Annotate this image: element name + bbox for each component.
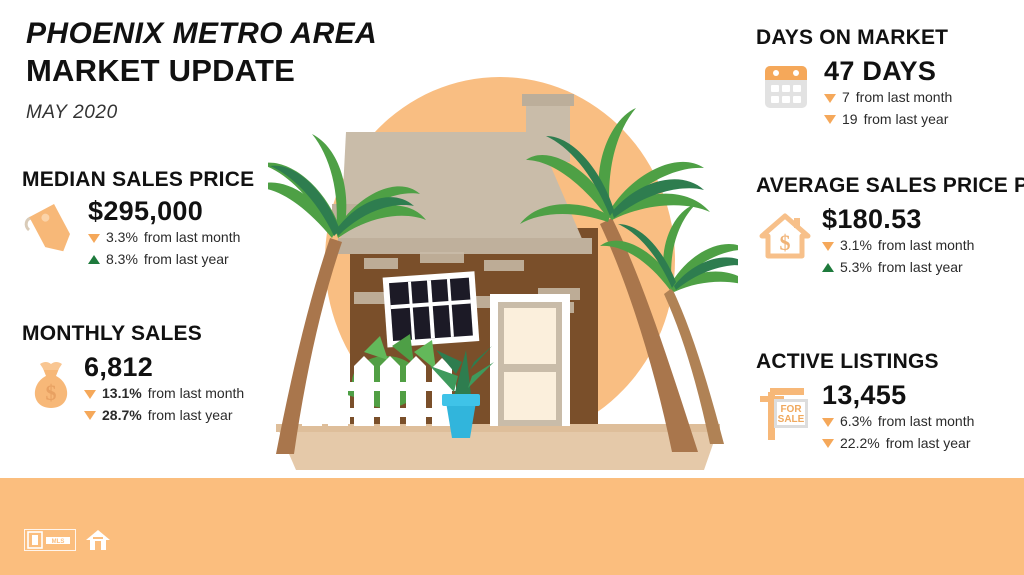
- svg-text:SALE: SALE: [778, 414, 805, 425]
- svg-text:$: $: [46, 380, 57, 405]
- arrow-down-icon: [824, 94, 836, 103]
- delta-number: 28.7%: [102, 405, 142, 426]
- delta-year: 5.3% from last year: [822, 257, 1018, 278]
- delta-number: 6.3%: [840, 411, 872, 432]
- stat-value: $295,000: [88, 196, 322, 227]
- delta-year: 19 from last year: [824, 109, 1018, 130]
- footer-bar: MLS Source: ARMLS® ubgre.com: [0, 478, 1024, 575]
- delta-label: from last year: [864, 109, 949, 130]
- arrow-down-icon: [822, 242, 834, 251]
- price-tag-icon: [22, 196, 80, 258]
- delta-month: 13.1% from last month: [84, 383, 322, 404]
- delta-month: 6.3% from last month: [822, 411, 1018, 432]
- stat-heading: ACTIVE LISTINGS: [756, 350, 1018, 374]
- delta-number: 7: [842, 87, 850, 108]
- house-dollar-icon: $: [756, 204, 814, 266]
- delta-label: from last month: [878, 235, 974, 256]
- stat-median-sales-price: MEDIAN SALES PRICE $295,000 3.3% from la…: [22, 168, 322, 270]
- money-bag-icon: $: [22, 352, 80, 414]
- stat-value: 13,455: [822, 380, 1018, 411]
- delta-number: 19: [842, 109, 858, 130]
- delta-month: 3.1% from last month: [822, 235, 1018, 256]
- arrow-down-icon: [824, 115, 836, 124]
- stat-days-on-market: DAYS ON MARKET: [756, 26, 1018, 130]
- house-illustration: [268, 52, 738, 472]
- delta-number: 3.1%: [840, 235, 872, 256]
- arrow-down-icon: [84, 411, 96, 420]
- delta-number: 3.3%: [106, 227, 138, 248]
- delta-year: 28.7% from last year: [84, 405, 322, 426]
- arrow-down-icon: [84, 390, 96, 399]
- delta-month: 7 from last month: [824, 87, 1018, 108]
- stat-value: 47 DAYS: [824, 56, 1018, 87]
- footer-logos: MLS: [24, 528, 111, 552]
- stat-active-listings: ACTIVE LISTINGS FOR SALE 13,455 6.3%: [756, 350, 1018, 454]
- delta-label: from last month: [148, 383, 244, 404]
- delta-label: from last year: [148, 405, 233, 426]
- stat-average-price-per-sqft: AVERAGE SALES PRICE PER SQ. FT. $ $180.5…: [756, 174, 1018, 278]
- delta-number: 13.1%: [102, 383, 142, 404]
- stat-heading: AVERAGE SALES PRICE PER SQ. FT.: [756, 174, 1018, 198]
- stat-monthly-sales: MONTHLY SALES $ 6,812 13.1% from last mo…: [22, 322, 322, 426]
- delta-year: 8.3% from last year: [88, 249, 322, 270]
- delta-label: from last month: [878, 411, 974, 432]
- delta-year: 22.2% from last year: [822, 433, 1018, 454]
- equal-housing-logo: [85, 528, 111, 552]
- delta-label: from last year: [886, 433, 971, 454]
- arrow-down-icon: [822, 439, 834, 448]
- for-sale-sign-icon: FOR SALE: [756, 380, 814, 442]
- realtor-mls-logo: MLS: [24, 529, 76, 551]
- stat-value: $180.53: [822, 204, 1018, 235]
- arrow-up-icon: [88, 255, 100, 264]
- arrow-up-icon: [822, 263, 834, 272]
- stat-heading: DAYS ON MARKET: [756, 26, 1018, 50]
- infographic-page: PHOENIX METRO AREA MARKET UPDATE MAY 202…: [0, 0, 1024, 575]
- delta-label: from last year: [144, 249, 229, 270]
- delta-number: 8.3%: [106, 249, 138, 270]
- stat-heading: MONTHLY SALES: [22, 322, 322, 346]
- svg-text:MLS: MLS: [52, 539, 65, 545]
- svg-text:$: $: [780, 230, 791, 255]
- stat-value: 6,812: [84, 352, 322, 383]
- delta-number: 5.3%: [840, 257, 872, 278]
- title-region: PHOENIX METRO AREA: [26, 18, 377, 50]
- arrow-down-icon: [822, 418, 834, 427]
- delta-label: from last year: [878, 257, 963, 278]
- delta-month: 3.3% from last month: [88, 227, 322, 248]
- arrow-down-icon: [88, 234, 100, 243]
- delta-label: from last month: [144, 227, 240, 248]
- delta-number: 22.2%: [840, 433, 880, 454]
- stat-heading: MEDIAN SALES PRICE: [22, 168, 322, 192]
- calendar-icon: [756, 56, 814, 118]
- delta-label: from last month: [856, 87, 952, 108]
